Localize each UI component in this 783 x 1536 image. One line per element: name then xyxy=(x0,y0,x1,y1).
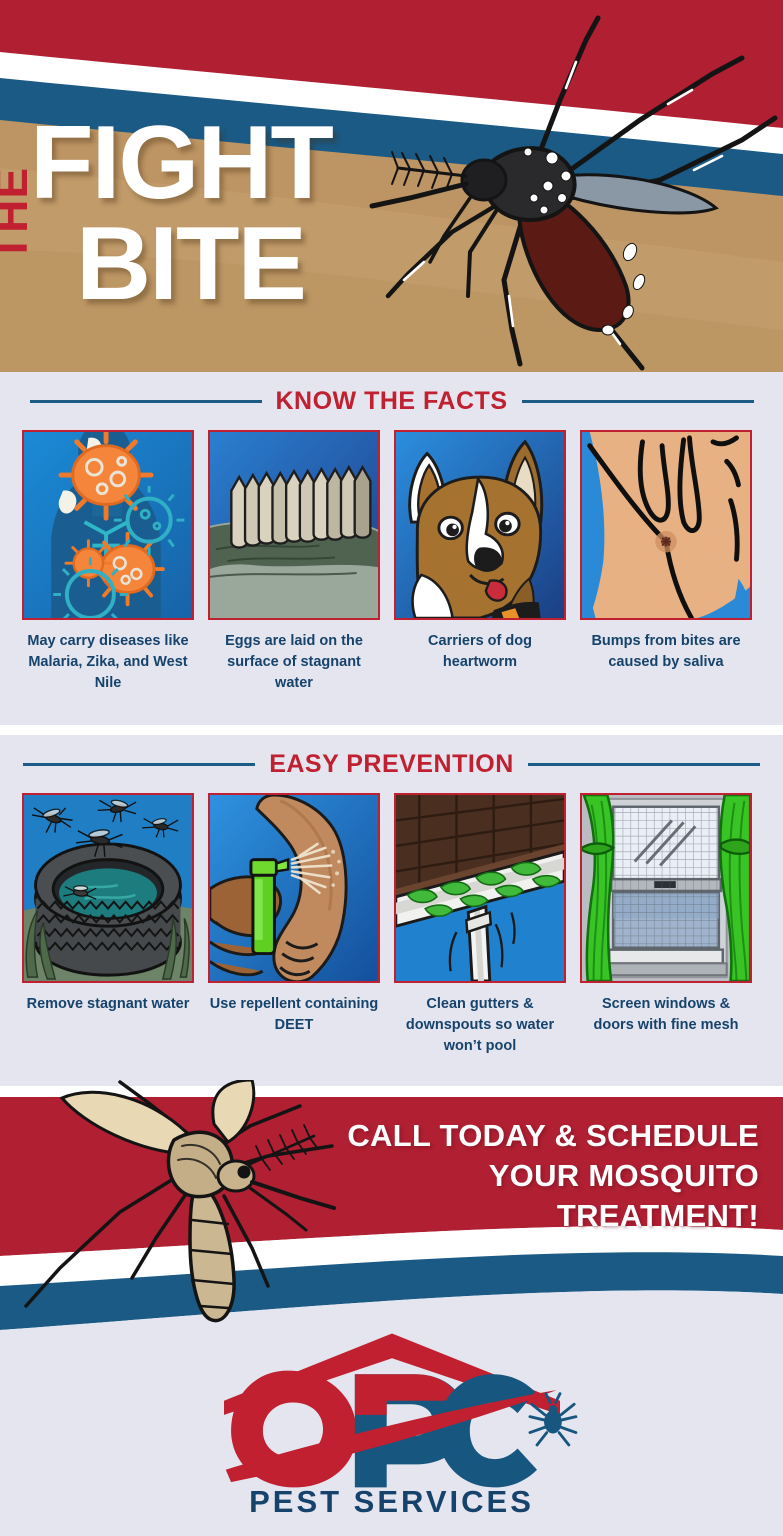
title-fight: FIGHT xyxy=(30,118,450,208)
fact-caption: May carry diseases like Malaria, Zika, a… xyxy=(22,631,194,694)
section-divider xyxy=(0,725,783,735)
mosquito-eggs-icon xyxy=(208,430,380,620)
opc-roof-logo xyxy=(182,1330,602,1498)
prevention-card-stagnant-water: Remove stagnant water xyxy=(22,793,194,1057)
title-bite: BITE xyxy=(76,214,305,314)
section-header-prevention: EASY PREVENTION xyxy=(0,735,783,783)
fact-card-diseases: May carry diseases like Malaria, Zika, a… xyxy=(22,430,194,694)
rule-left xyxy=(23,763,255,766)
logo-tagline: PEST SERVICES xyxy=(249,1484,534,1520)
section-title-facts: KNOW THE FACTS xyxy=(276,387,508,416)
header-banner: FIGHT THE BITE xyxy=(0,0,783,372)
window-screen-icon xyxy=(580,793,752,983)
dog-icon xyxy=(394,430,566,620)
opc-logo[interactable]: PEST SERVICES xyxy=(0,1330,783,1520)
repellent-spray-icon xyxy=(208,793,380,983)
prevention-card-gutters: Clean gutters & downspouts so water won’… xyxy=(394,793,566,1057)
virus-body-icon xyxy=(22,430,194,620)
cta-line-1: CALL TODAY & SCHEDULE xyxy=(289,1116,759,1156)
fact-caption: Eggs are laid on the surface of stagnant… xyxy=(208,631,380,694)
prevention-caption: Remove stagnant water xyxy=(22,994,194,1015)
page-title: FIGHT THE BITE xyxy=(30,118,450,348)
section-title-prevention: EASY PREVENTION xyxy=(269,750,514,779)
fact-caption: Bumps from bites are caused by saliva xyxy=(580,631,752,673)
rule-right xyxy=(522,400,754,403)
title-the-wrapper: THE xyxy=(34,214,82,314)
fact-caption: Carriers of dog heartworm xyxy=(394,631,566,673)
tire-standing-water-icon xyxy=(22,793,194,983)
facts-card-row: May carry diseases like Malaria, Zika, a… xyxy=(0,430,783,694)
rule-left xyxy=(30,400,262,403)
clogged-gutter-icon xyxy=(394,793,566,983)
section-header-facts: KNOW THE FACTS xyxy=(0,372,783,420)
prevention-caption: Clean gutters & downspouts so water won’… xyxy=(394,994,566,1057)
prevention-card-screens: Screen windows & doors with fine mesh xyxy=(580,793,752,1057)
section-easy-prevention: EASY PREVENTION xyxy=(0,735,783,1080)
fact-card-heartworm: Carriers of dog heartworm xyxy=(394,430,566,694)
rule-right xyxy=(528,763,760,766)
title-the: THE xyxy=(0,167,34,262)
cta-text-block: CALL TODAY & SCHEDULE YOUR MOSQUITO TREA… xyxy=(289,1116,759,1236)
prevention-card-row: Remove stagnant water xyxy=(0,793,783,1057)
prevention-caption: Use repellent containing DEET xyxy=(208,994,380,1036)
section-know-the-facts: KNOW THE FACTS xyxy=(0,372,783,725)
prevention-caption: Screen windows & doors with fine mesh xyxy=(580,994,752,1036)
skin-bump-icon xyxy=(580,430,752,620)
infographic-page: FIGHT THE BITE KNOW THE FACTS xyxy=(0,0,783,1536)
prevention-card-repellent: Use repellent containing DEET xyxy=(208,793,380,1057)
fact-card-bumps: Bumps from bites are caused by saliva xyxy=(580,430,752,694)
fact-card-eggs: Eggs are laid on the surface of stagnant… xyxy=(208,430,380,694)
cta-line-2: YOUR MOSQUITO TREATMENT! xyxy=(289,1156,759,1236)
